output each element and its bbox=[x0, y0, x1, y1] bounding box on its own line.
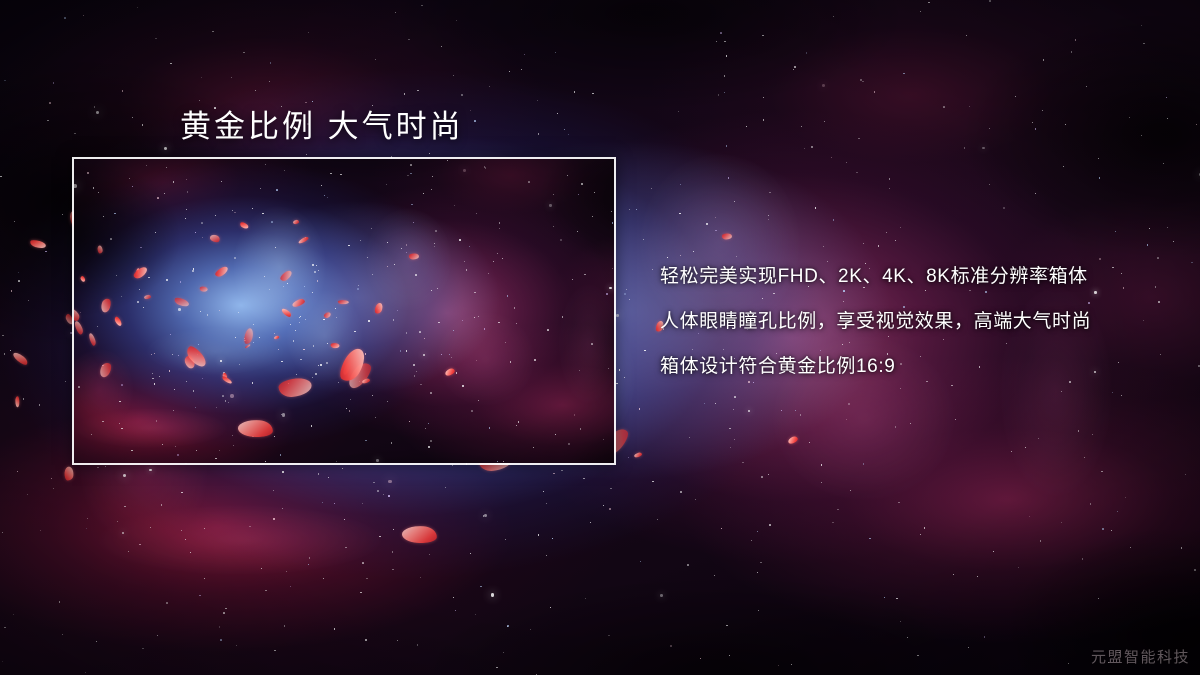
image-panel-frame bbox=[72, 157, 616, 465]
slide-body-text: 轻松完美实现FHD、2K、4K、8K标准分辨率箱体 人体眼睛瞳孔比例，享受视觉效… bbox=[660, 254, 1180, 389]
body-line-2: 人体眼睛瞳孔比例，享受视觉效果，高端大气时尚 bbox=[660, 299, 1180, 344]
panel-vignette bbox=[74, 159, 614, 463]
slide-title: 黄金比例 大气时尚 bbox=[180, 101, 464, 146]
presentation-slide: 黄金比例 大气时尚 轻松完美实现FHD、2K、4K、8K标准分辨率箱体 人体眼睛… bbox=[0, 0, 1200, 675]
company-watermark: 元盟智能科技 bbox=[1091, 646, 1190, 667]
body-line-1: 轻松完美实现FHD、2K、4K、8K标准分辨率箱体 bbox=[660, 254, 1180, 299]
body-line-3: 箱体设计符合黄金比例16:9 bbox=[660, 344, 1180, 389]
image-panel-inner bbox=[74, 159, 614, 463]
image-panel-content bbox=[74, 159, 614, 463]
